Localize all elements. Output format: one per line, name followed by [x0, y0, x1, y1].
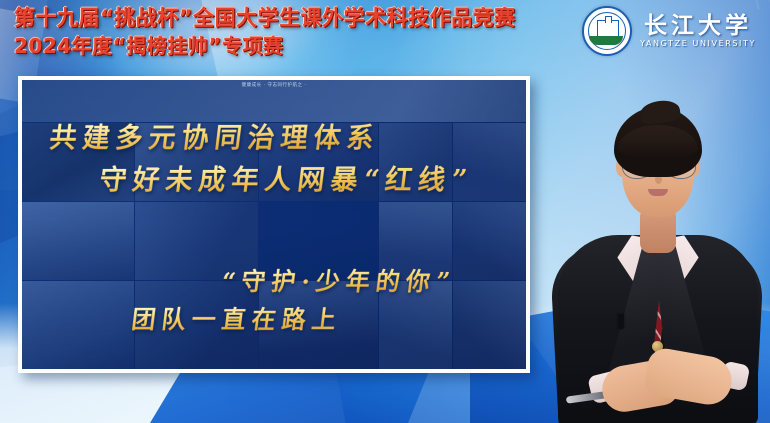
- lapel-microphone-icon: [618, 313, 624, 329]
- presentation-stage: 第十九届“挑战杯”全国大学生课外学术科技作品竞赛 2024年度“揭榜挂帅”专项赛…: [0, 0, 770, 423]
- presenter-figure: [556, 95, 761, 423]
- university-seal-icon: [582, 6, 632, 56]
- seal-river-icon: [589, 36, 623, 45]
- slide-headline-line1: 共建多元协同治理体系: [48, 116, 383, 155]
- university-name-en: YANGTZE UNIVERSITY: [640, 40, 756, 48]
- university-logo: 长江大学 YANGTZE UNIVERSITY: [582, 6, 756, 56]
- slide-subtitle-line2: 团队一直在路上: [130, 300, 344, 335]
- competition-title-line1: 第十九届“挑战杯”全国大学生课外学术科技作品竞赛: [14, 6, 516, 31]
- slide-content: 健康成长 · 守志同行护航之 · 共建多元协同治理体系 守好未成年人网暴“红线”…: [22, 80, 526, 369]
- competition-title: 第十九届“挑战杯”全国大学生课外学术科技作品竞赛 2024年度“揭榜挂帅”专项赛: [14, 6, 516, 58]
- slide-headline-line2: 守好未成年人网暴“红线”: [98, 158, 476, 197]
- competition-title-line2: 2024年度“揭榜挂帅”专项赛: [14, 35, 516, 59]
- university-name-cn: 长江大学: [644, 14, 752, 37]
- slide-frame[interactable]: 健康成长 · 守志同行护航之 · 共建多元协同治理体系 守好未成年人网暴“红线”…: [18, 76, 530, 373]
- slide-text-layer: 共建多元协同治理体系 守好未成年人网暴“红线” “守护·少年的你” 团队一直在路…: [22, 80, 526, 369]
- slide-subtitle-line1: “守护·少年的你”: [220, 262, 458, 297]
- university-wordmark: 长江大学 YANGTZE UNIVERSITY: [640, 14, 756, 48]
